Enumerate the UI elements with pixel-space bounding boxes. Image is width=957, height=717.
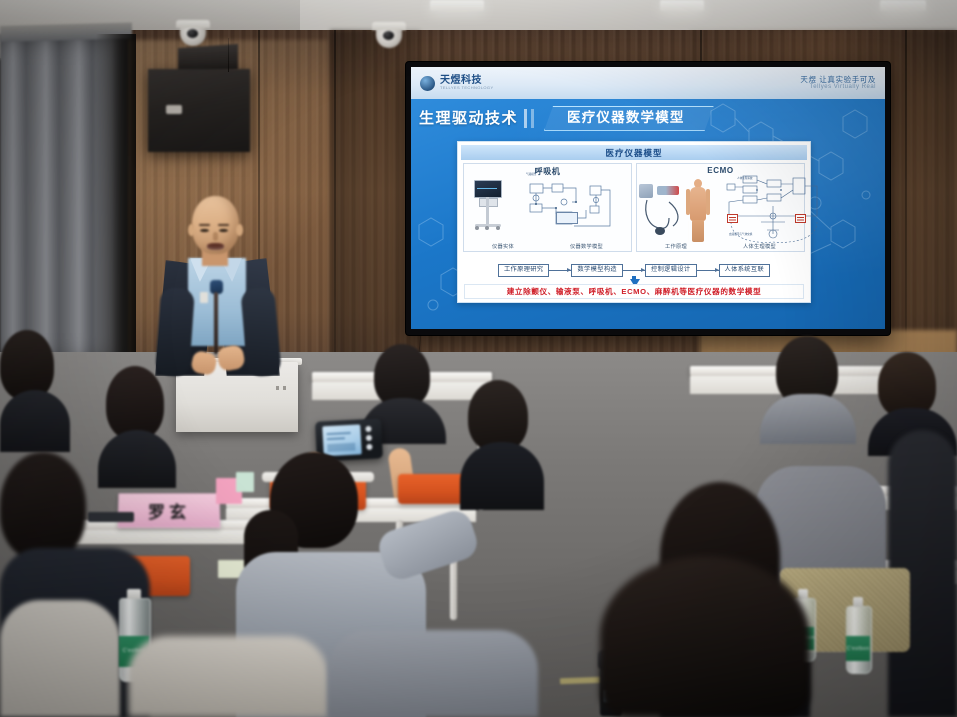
ventilator-schematic [516,178,620,240]
presenter-brow [199,224,210,226]
flow-step: 工作原理研究 [498,264,550,276]
audience-member-foreground [328,630,538,717]
tagline-en: Tellyes Virtually Real [800,84,876,92]
panel-columns: 呼吸机 [463,163,805,252]
title-divider [531,109,534,128]
panel-title: 医疗仪器模型 [461,145,807,160]
ceiling-camera-icon [372,22,406,48]
ceiling-light [880,0,926,11]
placard-name-text: 罗玄 [148,498,190,523]
flow-arrow-icon [623,270,645,271]
slide-tagline: 天煜 让真实验手可及 Tellyes Virtually Real [800,75,876,92]
physiology-circuit-schematic [721,172,833,250]
audience-member [98,366,176,486]
ceiling-light [430,0,484,11]
presenter-brow [218,224,229,226]
presenter-arm-left [155,287,195,377]
highlight-marker [795,214,806,223]
presenter-nose [213,232,218,241]
column-captions: 仪器实体 仪器数学模型 [464,243,631,250]
column-heading: 呼吸机 [464,164,631,177]
flow-arrow-icon [697,270,719,271]
column-ecmo: ECMO [636,163,805,252]
presenter [152,196,292,376]
ecmo-tubing [639,190,687,242]
caption-physiology: 人体生理模型 [743,243,776,250]
audience-member [0,330,70,450]
column-captions: 工作原理 人体生理模型 [637,243,804,250]
title-divider [524,109,527,128]
speaker-cable [228,38,229,72]
brand-logo-icon [420,76,435,91]
wall-speaker [148,69,250,152]
slide-header: 天煜科技 TELLYES TECHNOLOGY 天煜 让真实验手可及 Telly… [411,67,885,99]
slide-title-row: 生理驱动技术 医疗仪器数学模型 [419,106,714,131]
flow-arrow-icon [549,270,571,271]
presenter-arm-right [240,287,282,378]
conference-room-photo: 天煜科技 TELLYES TECHNOLOGY 天煜 让真实验手可及 Telly… [0,0,957,717]
water-bottle: C'estbon [846,606,870,672]
phone-controls[interactable] [365,426,377,453]
audience-member-foreground [128,636,328,717]
speaker-brand-badge [166,105,182,114]
content-panel: 医疗仪器模型 呼吸机 [457,141,811,303]
presenter-ear [188,224,195,236]
microphone-handle [214,292,218,354]
ventilator-device-illustration [474,180,508,236]
caption-device: 仪器实体 [492,243,514,250]
presenter-lanyard-badge [200,292,208,303]
slide-conclusion: 建立除颤仪、输液泵、呼吸机、ECMO、麻醉机等医疗仪器的数学模型 [464,284,804,299]
slide-title: 生理驱动技术 [419,111,518,126]
ceiling-light [660,0,704,11]
flow-step: 控制逻辑设计 [645,264,697,276]
audience-member-foreground [0,600,120,717]
wall-seam [334,30,336,390]
brand-lockup: 天煜科技 TELLYES TECHNOLOGY [420,76,494,91]
audience-member [460,380,544,510]
flow-step: 数学模型构造 [571,264,623,276]
caption-principle: 工作原理 [665,243,687,250]
presenter-ear [236,224,243,236]
lectern-controls[interactable] [276,386,288,390]
audience-member-foreground [600,556,810,717]
slide-subtitle: 医疗仪器数学模型 [544,106,714,131]
ceiling-camera-icon [176,20,210,46]
slide-body: 生理驱动技术 医疗仪器数学模型 医疗仪器模型 呼吸机 [411,99,885,329]
tagline-cn: 天煜 让真实验手可及 [800,75,876,84]
display-screen: 天煜科技 TELLYES TECHNOLOGY 天煜 让真实验手可及 Telly… [411,67,885,329]
presenter-mouth [207,243,224,250]
curtain-shadow [96,34,136,364]
column-ventilator: 呼吸机 [463,163,632,252]
caption-model: 仪器数学模型 [570,243,603,250]
schematic-note [556,212,578,224]
presentation-display[interactable]: 天煜科技 TELLYES TECHNOLOGY 天煜 让真实验手可及 Telly… [406,62,890,335]
patient-figure-illustration [683,178,713,244]
bottle-label: C'estbon [846,636,870,661]
flow-step: 人体系统互联 [719,264,771,276]
brand-name-en: TELLYES TECHNOLOGY [440,86,494,90]
highlight-marker [727,214,738,223]
